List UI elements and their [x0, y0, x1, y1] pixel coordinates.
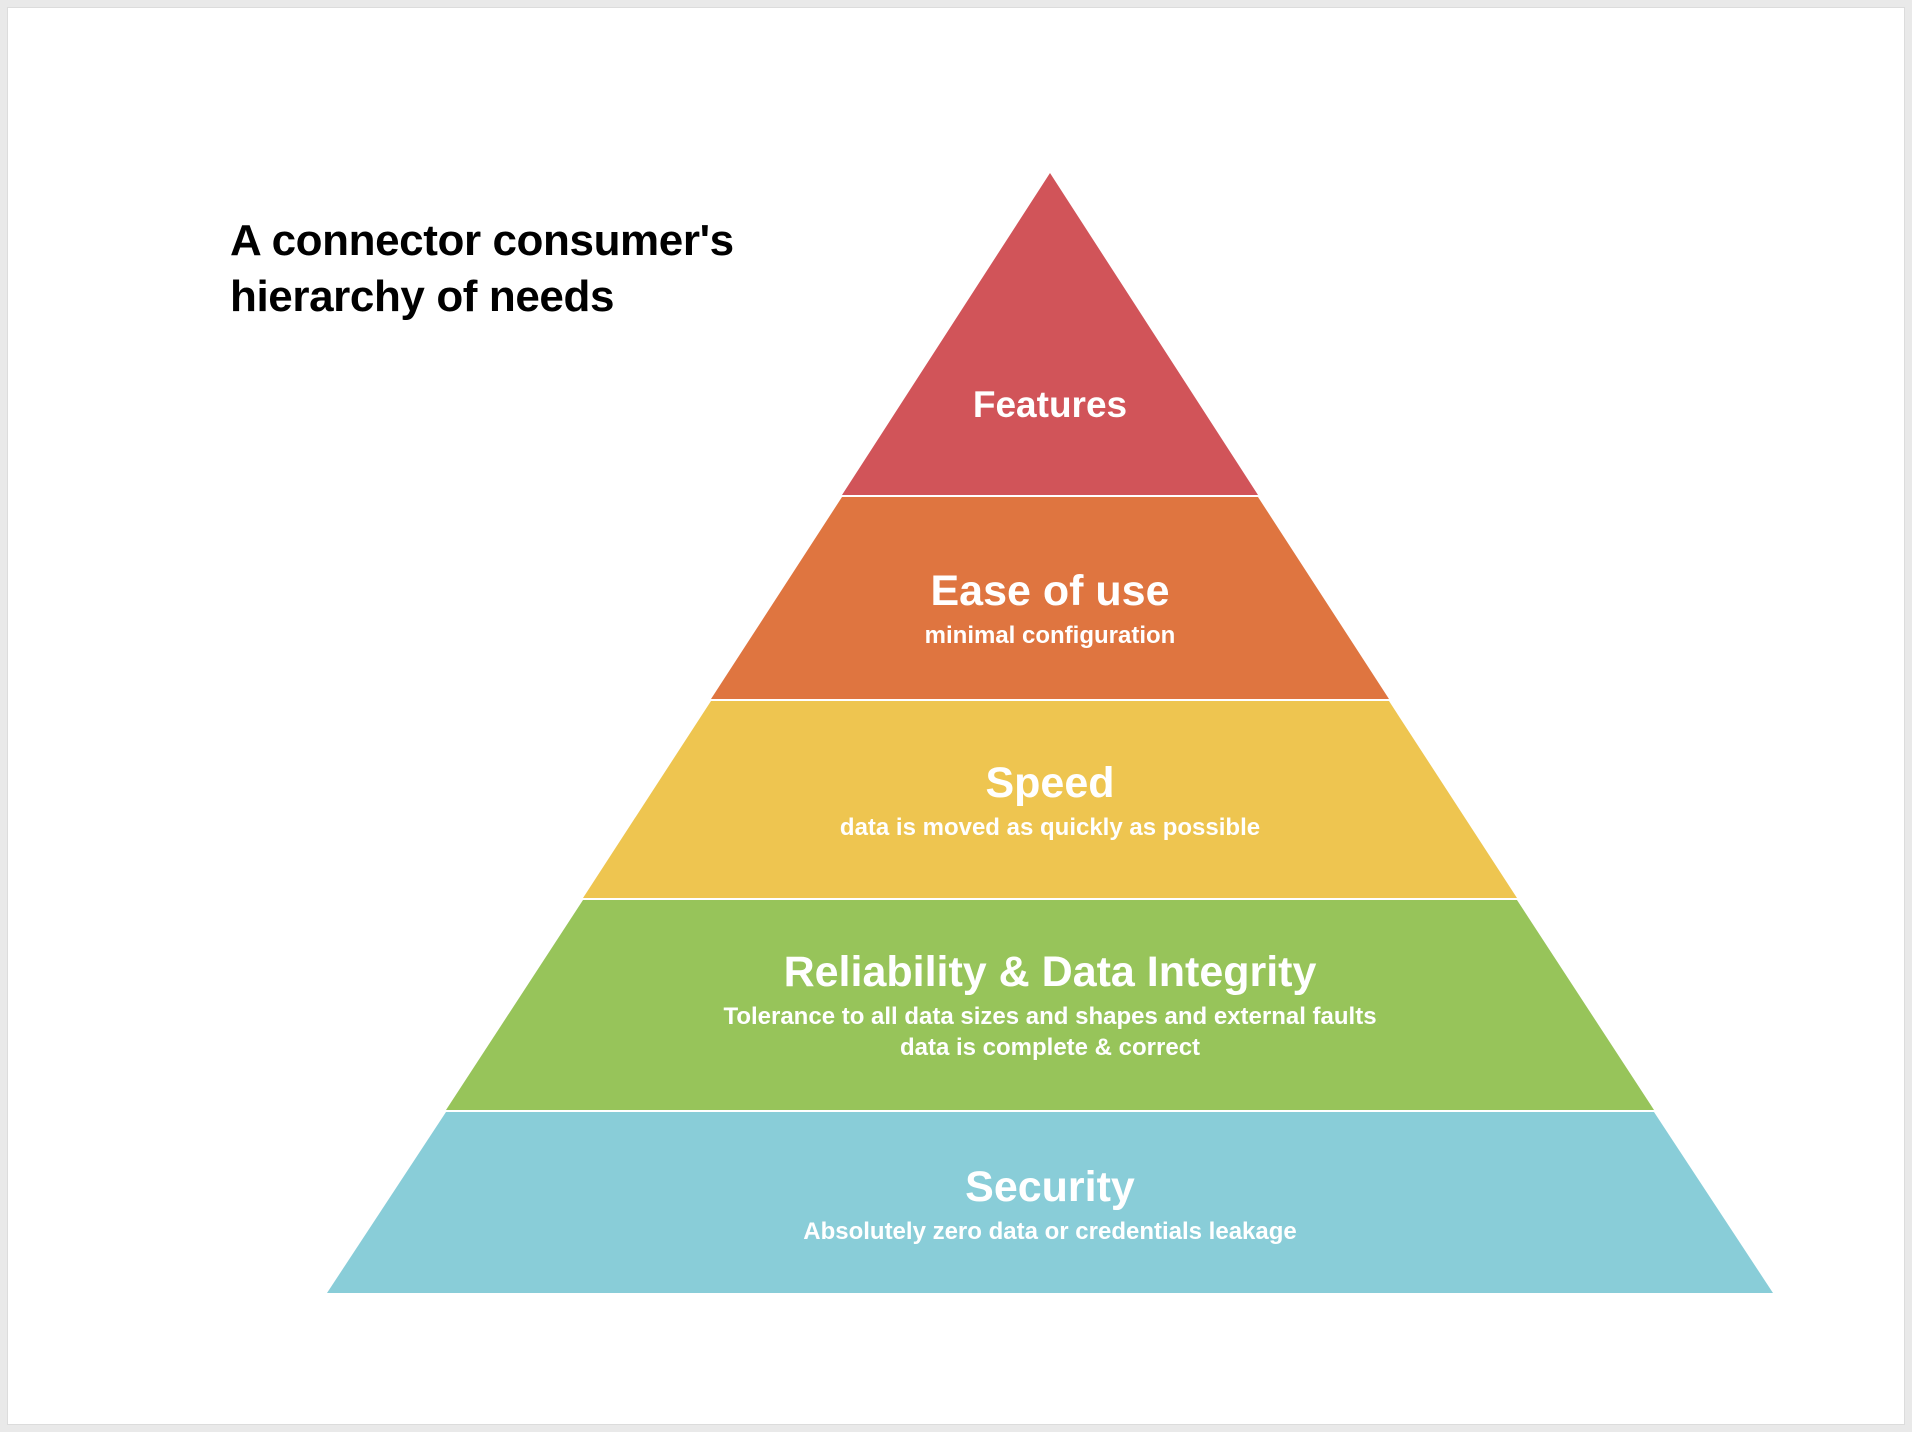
pyramid-label-features-title: Features: [650, 385, 1450, 425]
pyramid-label-speed: Speed data is moved as quickly as possib…: [650, 760, 1450, 843]
pyramid-label-speed-title: Speed: [650, 760, 1450, 806]
pyramid-label-security: Security Absolutely zero data or credent…: [550, 1164, 1550, 1247]
pyramid-label-reliability-title: Reliability & Data Integrity: [550, 949, 1550, 995]
page-title: A connector consumer's hierarchy of need…: [230, 213, 930, 326]
pyramid-label-reliability-sub2: data is complete & correct: [550, 1034, 1550, 1062]
pyramid-label-security-title: Security: [550, 1164, 1550, 1210]
pyramid-label-ease-of-use-sub: minimal configuration: [650, 622, 1450, 650]
page-title-line-1: A connector consumer's: [230, 213, 930, 269]
pyramid-label-ease-of-use: Ease of use minimal configuration: [650, 568, 1450, 651]
slide-canvas: A connector consumer's hierarchy of need…: [8, 8, 1904, 1424]
pyramid-label-ease-of-use-title: Ease of use: [650, 568, 1450, 614]
pyramid-label-speed-sub: data is moved as quickly as possible: [650, 814, 1450, 842]
pyramid-label-features: Features: [650, 385, 1450, 425]
pyramid-label-security-sub: Absolutely zero data or credentials leak…: [550, 1218, 1550, 1246]
pyramid-label-reliability: Reliability & Data Integrity Tolerance t…: [550, 949, 1550, 1062]
page-title-line-2: hierarchy of needs: [230, 269, 930, 325]
pyramid-label-reliability-sub: Tolerance to all data sizes and shapes a…: [550, 1003, 1550, 1031]
